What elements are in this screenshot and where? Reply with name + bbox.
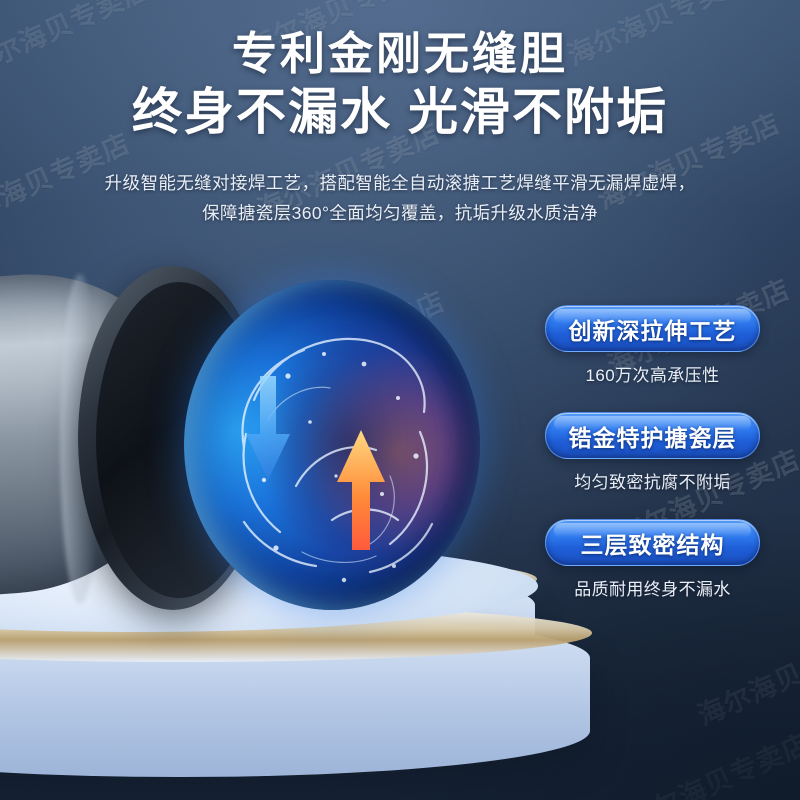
feature-badge-label: 三层致密结构 [581, 526, 725, 560]
headline-block: 专利金刚无缝胆 终身不漏水 光滑不附垢 [0, 26, 800, 142]
subtitle-block: 升级智能无缝对接焊工艺，搭配智能全自动滚搪工艺焊缝平滑无漏焊虚焊， 保障搪瓷层3… [0, 168, 800, 228]
feature-badge-zirconium-enamel[interactable]: 锆金特护搪瓷层 [545, 412, 760, 459]
feature-item: 锆金特护搪瓷层 均匀致密抗腐不附垢 [545, 412, 760, 493]
subtitle-line-2: 保障搪瓷层360°全面均匀覆盖，抗垢升级水质洁净 [0, 198, 800, 228]
disc-edge-highlight [184, 280, 480, 610]
disc-surface [184, 280, 480, 610]
feature-badge-label: 锆金特护搪瓷层 [569, 419, 737, 453]
feature-badge-deep-drawing[interactable]: 创新深拉伸工艺 [545, 305, 760, 352]
feature-badge-three-layer[interactable]: 三层致密结构 [545, 519, 760, 566]
feature-badge-label: 创新深拉伸工艺 [569, 312, 737, 346]
subtitle-line-1: 升级智能无缝对接焊工艺，搭配智能全自动滚搪工艺焊缝平滑无漏焊虚焊， [0, 168, 800, 198]
feature-description: 160万次高承压性 [545, 361, 760, 386]
watermark: 海尔海贝专卖店 [691, 618, 800, 733]
feature-description: 均匀致密抗腐不附垢 [545, 468, 760, 493]
water-cutaway-disc [184, 280, 480, 610]
feature-item: 三层致密结构 品质耐用终身不漏水 [545, 519, 760, 600]
headline-line-1: 专利金刚无缝胆 [0, 26, 800, 82]
feature-item: 创新深拉伸工艺 160万次高承压性 [545, 305, 760, 386]
feature-list: 创新深拉伸工艺 160万次高承压性 锆金特护搪瓷层 均匀致密抗腐不附垢 三层致密… [545, 305, 760, 626]
feature-description: 品质耐用终身不漏水 [545, 575, 760, 600]
promo-banner: 海尔海贝专卖店 海尔海贝专卖店 海尔海贝专卖店 海尔海贝专卖店 海尔海贝专卖店 … [0, 0, 800, 800]
watermark: 海尔海贝专卖店 [621, 722, 800, 800]
headline-line-2: 终身不漏水 光滑不附垢 [0, 82, 800, 142]
